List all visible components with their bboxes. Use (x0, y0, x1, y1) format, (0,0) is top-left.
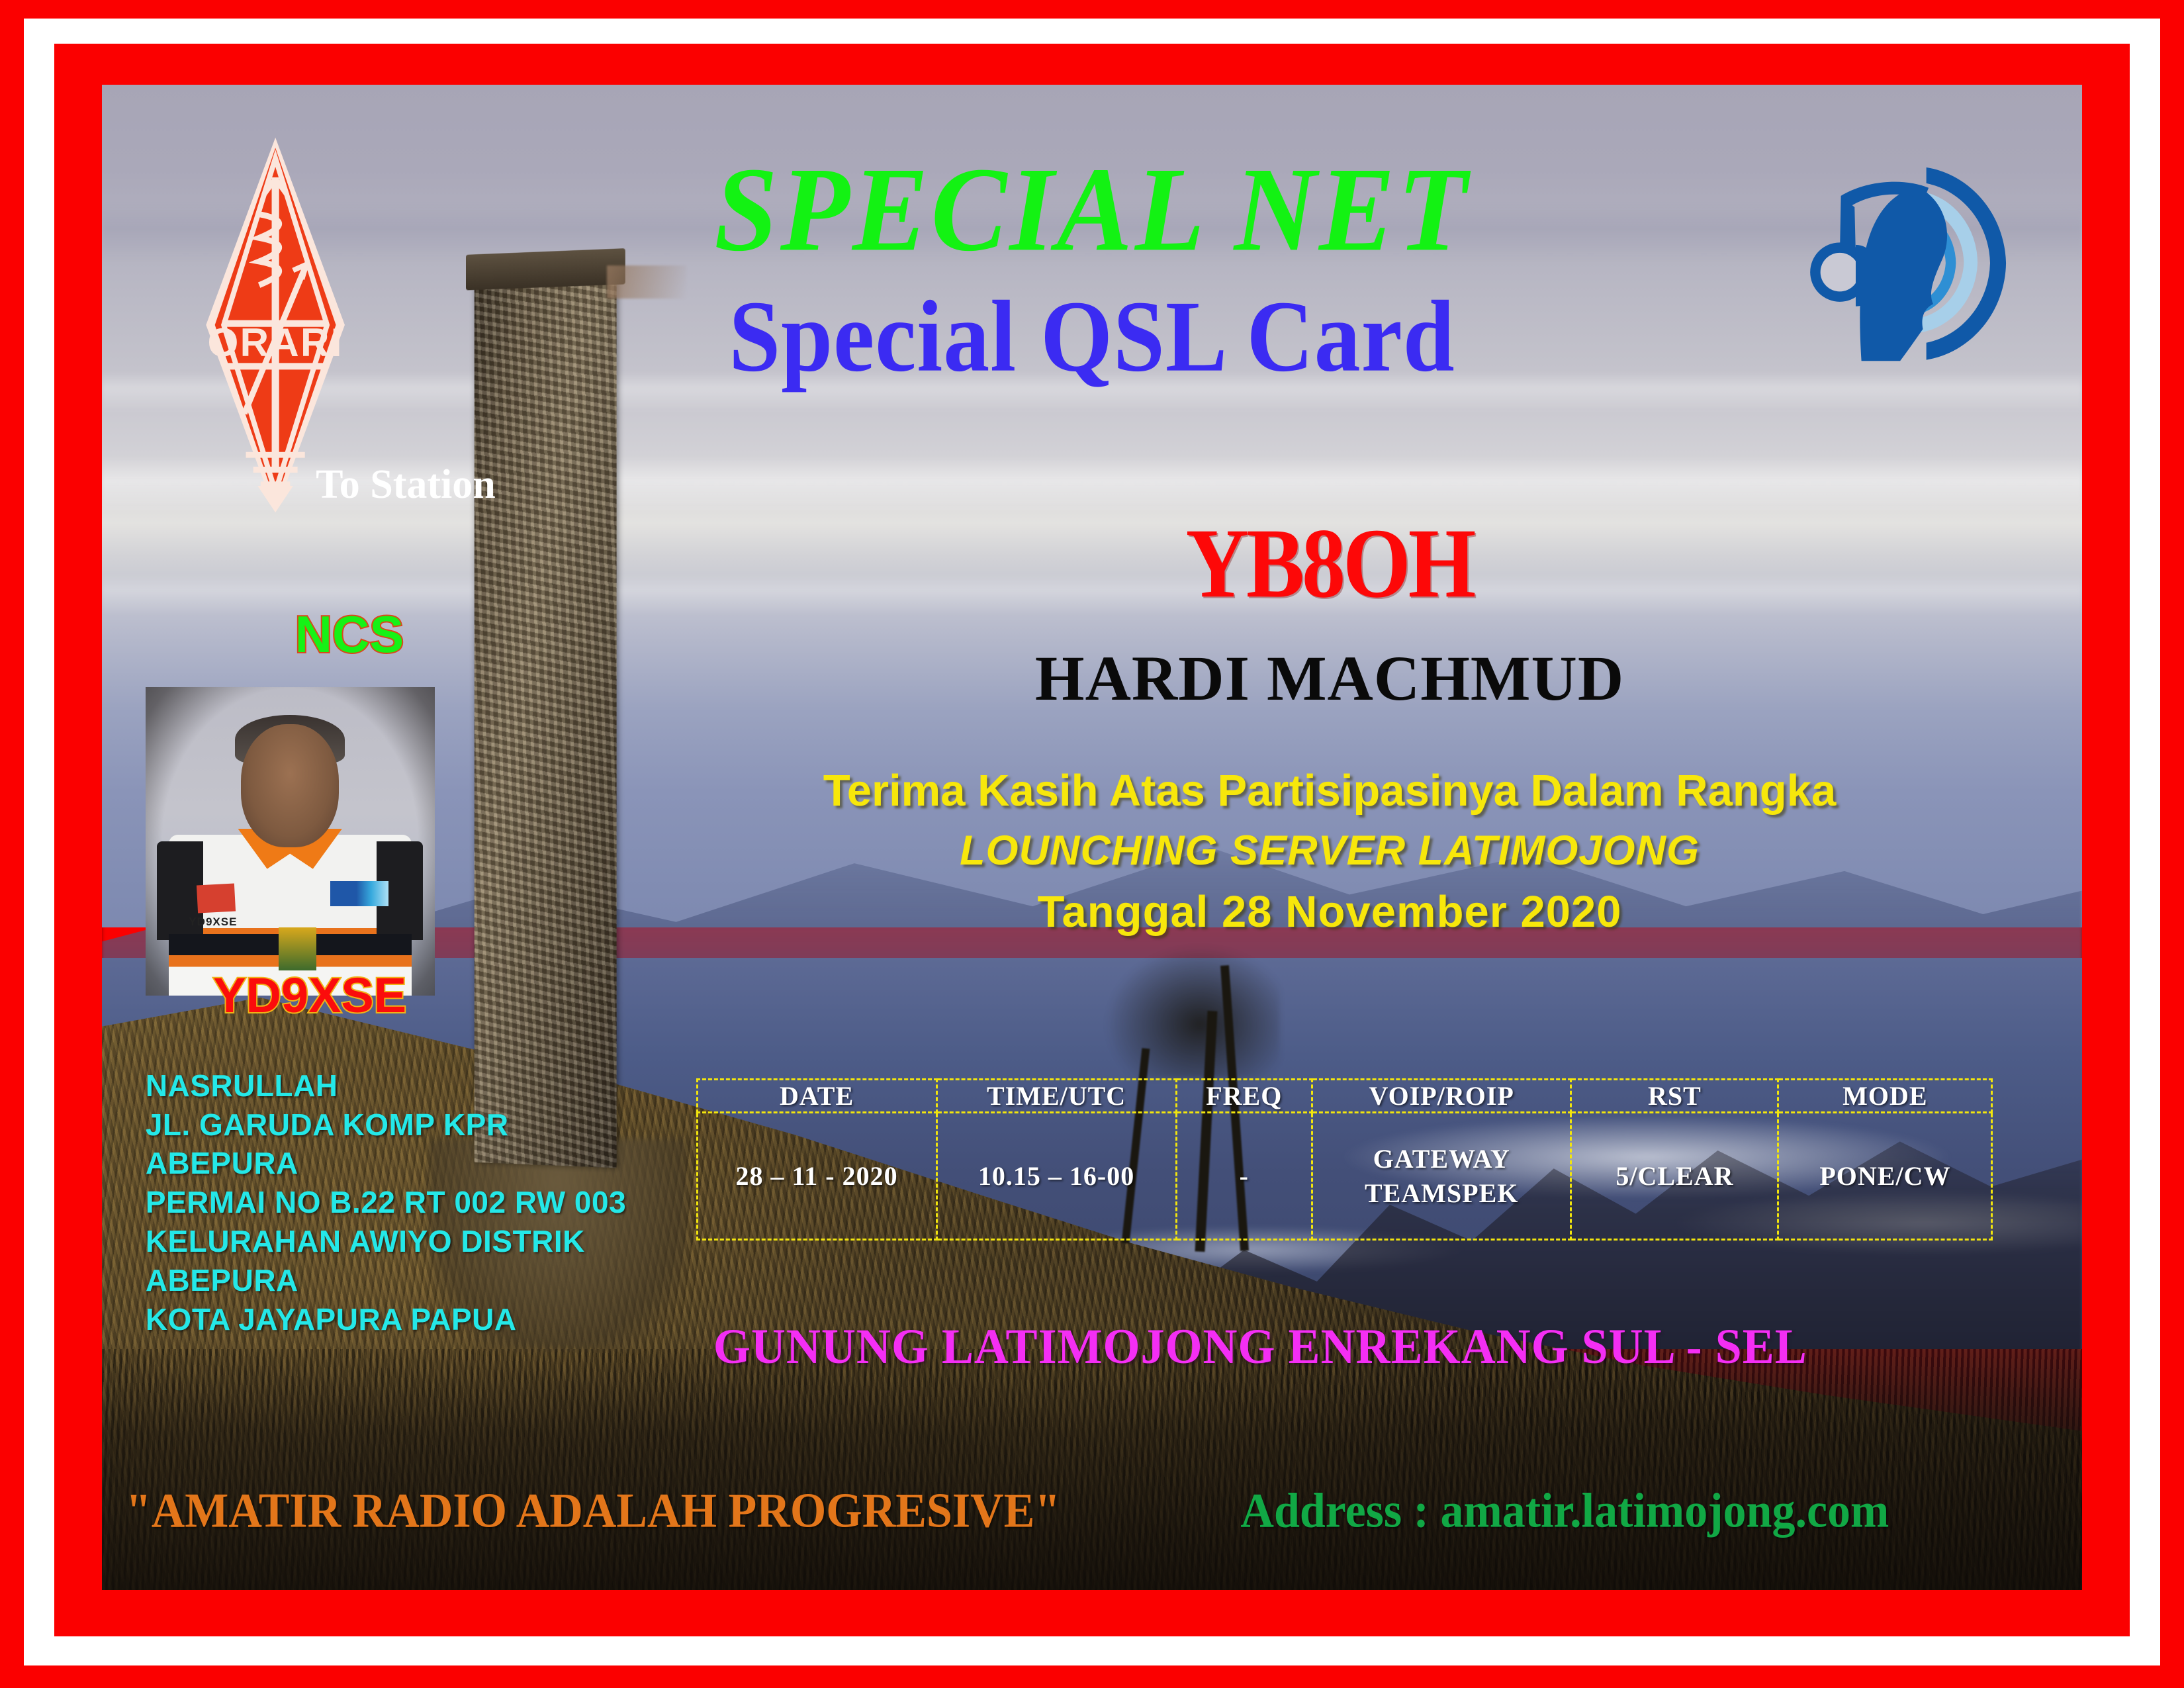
cell-date: 28 – 11 - 2020 (697, 1112, 936, 1240)
qso-log-table: DATE TIME/UTC FREQ VOIP/ROIP RST MODE 28… (696, 1078, 1993, 1241)
mailing-address-block: NASRULLAH JL. GARUDA KOMP KPR ABEPURA PE… (146, 1066, 660, 1339)
photo-badge-left (197, 883, 236, 913)
station-callsign: YB8OH (716, 505, 1944, 620)
cell-mode: PONE/CW (1778, 1112, 1992, 1240)
qsl-card-outer-border: ORARI (0, 0, 2184, 1688)
event-name-line: LOUNCHING SERVER LATIMOJONG (657, 827, 2003, 874)
operator-name: HARDI MACHMUD (716, 641, 1944, 715)
cell-time: 10.15 – 16-00 (936, 1112, 1176, 1240)
cell-voip: GATEWAY TEAMSPEK (1312, 1112, 1571, 1240)
subtitle-special-qsl-card: Special QSL Card (102, 278, 2082, 395)
ncs-callsign: YD9XSE (142, 967, 478, 1023)
address-line: PERMAI NO B.22 RT 002 RW 003 (146, 1183, 660, 1222)
column-header-date: DATE (697, 1079, 936, 1112)
foreground-shadow (102, 1349, 2082, 1590)
qsl-card-inner-border: ORARI (54, 44, 2130, 1636)
address-line: ABEPURA (146, 1261, 660, 1300)
address-line: KOTA JAYAPURA PAPUA (146, 1300, 660, 1339)
column-header-time: TIME/UTC (936, 1079, 1176, 1112)
table-header-row: DATE TIME/UTC FREQ VOIP/ROIP RST MODE (697, 1079, 1992, 1112)
event-thanks-line: Terima Kasih Atas Partisipasinya Dalam R… (657, 765, 2003, 816)
photo-id-card (279, 927, 316, 970)
column-header-mode: MODE (1778, 1079, 1992, 1112)
cell-rst: 5/CLEAR (1571, 1112, 1778, 1240)
tree-canopy-silhouette (1102, 943, 1280, 1078)
address-line: JL. GARUDA KOMP KPR (146, 1105, 660, 1145)
photo-badge-right (330, 881, 388, 906)
address-line: NASRULLAH (146, 1066, 660, 1105)
page-title-special-net: SPECIAL NET (102, 141, 2082, 279)
ncs-operator-photo: YD9XSE (146, 687, 435, 996)
address-line: KELURAHAN AWIYO DISTRIK (146, 1222, 660, 1261)
footer-web-address: Address : amatir.latimojong.com (1240, 1483, 1889, 1539)
footer-motto: "AMATIR RADIO ADALAH PROGRESIVE" (126, 1483, 1060, 1539)
cell-freq: - (1176, 1112, 1312, 1240)
background-photograph: ORARI (102, 85, 2082, 1590)
column-header-freq: FREQ (1176, 1079, 1312, 1112)
to-station-label: To Station (316, 461, 496, 508)
table-row: 28 – 11 - 2020 10.15 – 16-00 - GATEWAY T… (697, 1112, 1992, 1240)
column-header-rst: RST (1571, 1079, 1778, 1112)
event-text-block: Terima Kasih Atas Partisipasinya Dalam R… (657, 765, 2003, 937)
ncs-label: NCS (191, 604, 508, 665)
photo-face (241, 724, 340, 847)
location-caption: GUNUNG LATIMOJONG ENREKANG SUL - SEL (607, 1318, 1914, 1376)
stone-cairn-monument (475, 259, 617, 1168)
photo-shirt-callsign: YD9XSE (189, 915, 237, 929)
column-header-voip: VOIP/ROIP (1312, 1079, 1571, 1112)
event-date-line: Tanggal 28 November 2020 (657, 886, 2003, 937)
address-line: ABEPURA (146, 1144, 660, 1183)
qsl-card-white-gap: ORARI (24, 19, 2160, 1665)
